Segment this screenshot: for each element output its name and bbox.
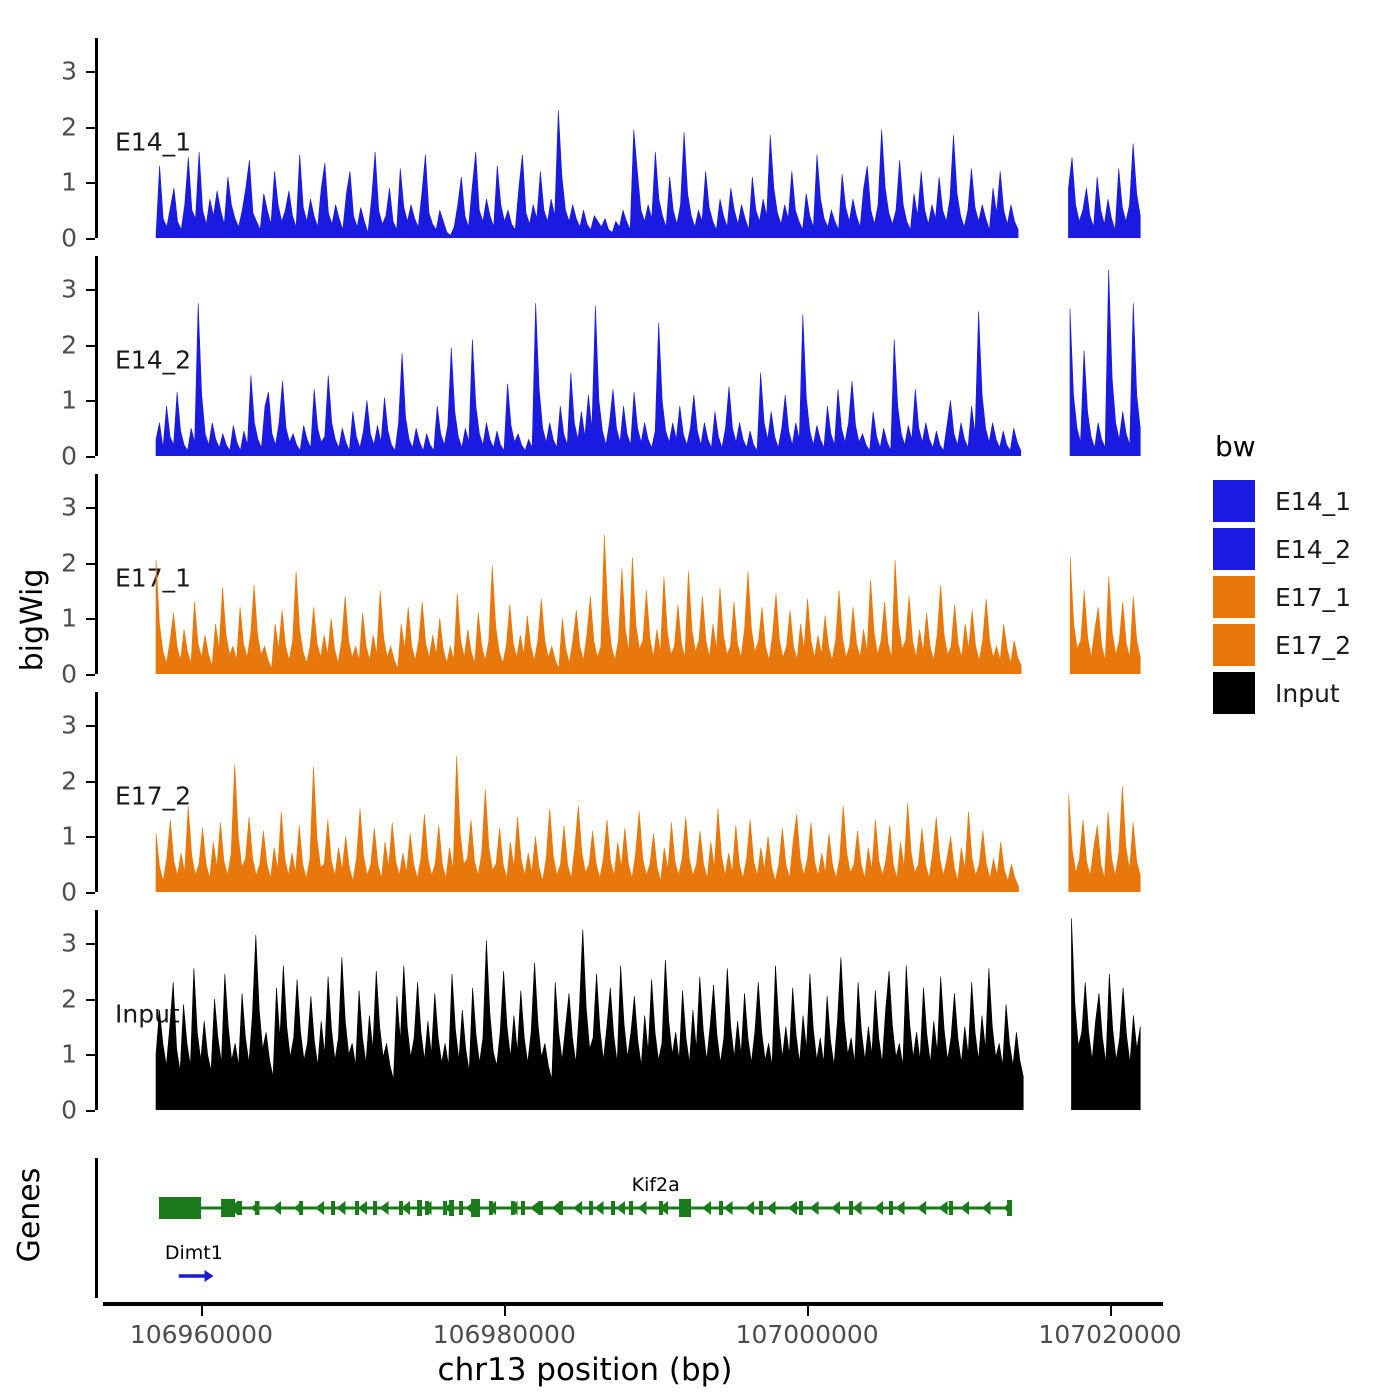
- legend-items: E14_1E14_2E17_1E17_2Input: [1213, 477, 1393, 717]
- y-tick-label: 0: [17, 878, 77, 907]
- y-tick-label: 2: [17, 112, 77, 141]
- legend-item-label: E17_1: [1275, 583, 1351, 612]
- signal-area: [156, 535, 1021, 674]
- signal-area: [1070, 270, 1140, 456]
- gene-strand-arrow: [337, 1201, 346, 1215]
- legend: bw E14_1E14_2E17_1E17_2Input: [1213, 430, 1393, 717]
- signal-area: [1070, 557, 1140, 674]
- legend-item-e17_1[interactable]: E17_1: [1213, 573, 1393, 621]
- x-tick-label: 107000000: [736, 1320, 879, 1349]
- gene-strand-arrow: [724, 1201, 733, 1215]
- gene-exon: [759, 1201, 763, 1215]
- y-tick: [86, 507, 95, 509]
- gene-strand-arrow: [466, 1201, 475, 1215]
- x-axis-title: chr13 position (bp): [0, 1352, 1170, 1388]
- gene-strand-arrow: [767, 1201, 776, 1215]
- y-tick: [86, 71, 95, 73]
- genes-panel: Kif2aDimt1: [95, 1158, 1155, 1298]
- gene-strand-arrow: [595, 1201, 604, 1215]
- gene-strand-arrow: [358, 1201, 367, 1215]
- track-panel-e17_2: 0123E17_2: [95, 692, 1163, 892]
- y-tick: [86, 836, 95, 838]
- y-tick: [86, 892, 95, 894]
- genes-axis-spine: [95, 1158, 98, 1298]
- legend-color-swatch: [1213, 672, 1255, 714]
- gene-strand-arrow: [616, 1201, 625, 1215]
- gene-strand-arrow: [896, 1201, 905, 1215]
- signal-area: [156, 303, 1021, 456]
- gene-strand-arrow: [874, 1201, 883, 1215]
- gene-strand-arrow: [788, 1201, 797, 1215]
- y-tick-label: 1: [17, 386, 77, 415]
- y-axis-title-genes: Genes: [12, 1120, 52, 1310]
- gene-exon: [949, 1201, 953, 1215]
- y-tick: [86, 1110, 95, 1112]
- legend-item-input[interactable]: Input: [1213, 669, 1393, 717]
- gene-exon: [521, 1201, 525, 1215]
- legend-item-label: Input: [1275, 679, 1340, 708]
- y-tick-label: 3: [17, 711, 77, 740]
- signal-plot-area: [103, 38, 1163, 238]
- y-tick-label: 0: [17, 224, 77, 253]
- gene-strand-arrow: [294, 1201, 303, 1215]
- gene-exon: [611, 1201, 615, 1215]
- gene-exon: [331, 1201, 335, 1215]
- signal-area: [156, 110, 1018, 238]
- gene-exon: [629, 1201, 633, 1215]
- signal-area: [156, 929, 1023, 1110]
- gene-label-dimt1: Dimt1: [165, 1242, 223, 1264]
- x-tick-label: 107020000: [1038, 1320, 1181, 1349]
- y-axis-spine: [95, 910, 98, 1110]
- gene-exon: [799, 1201, 803, 1215]
- y-tick-label: 2: [17, 984, 77, 1013]
- y-tick-label: 1: [17, 822, 77, 851]
- x-tick: [807, 1306, 809, 1316]
- gene-strand-arrow: [530, 1201, 539, 1215]
- x-tick: [1110, 1306, 1112, 1316]
- y-tick: [86, 345, 95, 347]
- signal-plot-area: [103, 474, 1163, 674]
- y-tick: [86, 289, 95, 291]
- legend-color-swatch: [1213, 528, 1255, 570]
- track-panel-e14_2: 0123E14_2: [95, 256, 1163, 456]
- y-tick-label: 3: [17, 57, 77, 86]
- gene-strand-arrow: [573, 1201, 582, 1215]
- y-tick-label: 2: [17, 548, 77, 577]
- gene-exon: [539, 1201, 543, 1215]
- x-tick: [201, 1306, 203, 1316]
- signal-area: [1071, 918, 1140, 1110]
- y-tick: [86, 781, 95, 783]
- legend-color-swatch: [1213, 576, 1255, 618]
- y-tick: [86, 1054, 95, 1056]
- gene-strand-arrow: [745, 1201, 754, 1215]
- y-tick-label: 3: [17, 275, 77, 304]
- signal-plot-area: [103, 910, 1163, 1110]
- y-tick: [86, 563, 95, 565]
- signal-area: [1068, 144, 1140, 238]
- gene-exon: [889, 1201, 893, 1215]
- y-tick: [86, 674, 95, 676]
- y-axis-spine: [95, 256, 98, 456]
- gene-exon: [373, 1201, 377, 1215]
- gene-exon: [849, 1201, 853, 1215]
- gene-exon: [719, 1201, 723, 1215]
- y-tick: [86, 182, 95, 184]
- genome-browser-figure: bigWig Genes 0123E14_10123E14_20123E17_1…: [0, 0, 1400, 1400]
- signal-area: [1069, 786, 1141, 892]
- gene-strand-arrow: [205, 1270, 214, 1282]
- legend-item-e17_2[interactable]: E17_2: [1213, 621, 1393, 669]
- y-tick: [86, 943, 95, 945]
- x-tick: [504, 1306, 506, 1316]
- y-tick: [86, 725, 95, 727]
- legend-color-swatch: [1213, 480, 1255, 522]
- legend-item-label: E14_1: [1275, 487, 1351, 516]
- y-tick-label: 0: [17, 442, 77, 471]
- legend-color-swatch: [1213, 624, 1255, 666]
- legend-item-label: E14_2: [1275, 535, 1351, 564]
- gene-strand-arrow: [982, 1201, 991, 1215]
- x-tick-label: 106980000: [433, 1320, 576, 1349]
- signal-plot-area: [103, 692, 1163, 892]
- y-tick-label: 3: [17, 493, 77, 522]
- x-axis-line: [103, 1302, 1163, 1306]
- y-axis-spine: [95, 38, 98, 238]
- y-tick-label: 0: [17, 660, 77, 689]
- y-tick: [86, 456, 95, 458]
- legend-item-label: E17_2: [1275, 631, 1351, 660]
- y-tick: [86, 400, 95, 402]
- y-tick-label: 3: [17, 929, 77, 958]
- y-tick: [86, 999, 95, 1001]
- gene-exon: [589, 1201, 593, 1215]
- y-tick-label: 1: [17, 604, 77, 633]
- gene-strand-arrow: [315, 1201, 324, 1215]
- signal-area: [156, 756, 1019, 892]
- gene-strand-arrow: [917, 1201, 926, 1215]
- gene-strand-arrow: [960, 1201, 969, 1215]
- y-tick: [86, 618, 95, 620]
- gene-strand-arrow: [638, 1201, 647, 1215]
- legend-title: bw: [1215, 430, 1393, 463]
- y-axis-spine: [95, 474, 98, 674]
- x-tick-label: 106960000: [130, 1320, 273, 1349]
- gene-strand-arrow: [272, 1201, 281, 1215]
- gene-label-kif2a: Kif2a: [632, 1174, 680, 1196]
- gene-strand-arrow: [810, 1201, 819, 1215]
- y-tick-label: 1: [17, 168, 77, 197]
- y-tick: [86, 127, 95, 129]
- y-tick-label: 2: [17, 330, 77, 359]
- y-tick-label: 1: [17, 1040, 77, 1069]
- gene-strand-arrow: [702, 1201, 711, 1215]
- genes-plot-area: [103, 1158, 1155, 1298]
- gene-strand-arrow: [853, 1201, 862, 1215]
- legend-item-e14_2[interactable]: E14_2: [1213, 525, 1393, 573]
- y-tick-label: 0: [17, 1096, 77, 1125]
- gene-exon: [459, 1201, 463, 1215]
- gene-strand-arrow: [939, 1201, 948, 1215]
- y-tick-label: 2: [17, 766, 77, 795]
- gene-exon: [417, 1200, 422, 1216]
- y-tick: [86, 238, 95, 240]
- gene-strand-arrow: [380, 1201, 389, 1215]
- track-panel-input: 0123Input: [95, 910, 1163, 1110]
- gene-exon: [159, 1197, 201, 1219]
- y-axis-spine: [95, 692, 98, 892]
- signal-plot-area: [103, 256, 1163, 456]
- track-panel-e14_1: 0123E14_1: [95, 38, 1163, 238]
- track-panel-e17_1: 0123E17_1: [95, 474, 1163, 674]
- legend-item-e14_1[interactable]: E14_1: [1213, 477, 1393, 525]
- gene-strand-arrow: [552, 1201, 561, 1215]
- gene-strand-arrow: [831, 1201, 840, 1215]
